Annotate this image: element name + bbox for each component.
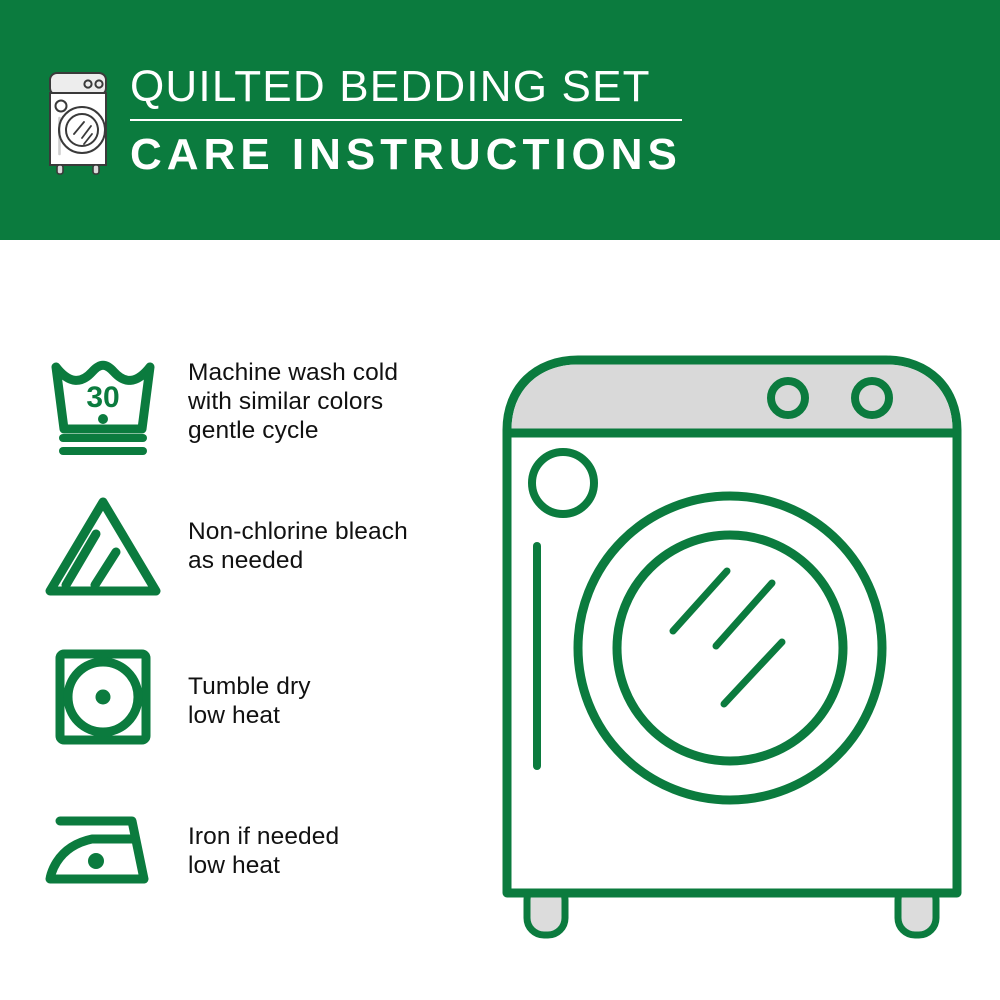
care-text-line: Machine wash cold (188, 358, 398, 387)
care-item-tumble-dry: Tumble dry low heat (44, 645, 464, 757)
care-text-line: low heat (188, 851, 339, 880)
page-title-secondary: CARE INSTRUCTIONS (130, 130, 682, 180)
wash-temperature-value: 30 (86, 381, 119, 414)
care-item-iron-text: Iron if needed low heat (188, 822, 339, 880)
care-item-tumble-dry-text: Tumble dry low heat (188, 672, 311, 730)
care-text-line: Tumble dry (188, 672, 311, 701)
page-title-primary: QUILTED BEDDING SET (130, 62, 682, 112)
care-item-machine-wash-text: Machine wash cold with similar colors ge… (188, 358, 398, 445)
care-text-line: gentle cycle (188, 416, 398, 445)
header-banner: QUILTED BEDDING SET CARE INSTRUCTIONS (0, 0, 1000, 240)
care-item-bleach-text: Non-chlorine bleach as needed (188, 517, 408, 575)
front-load-washing-machine-illustration (480, 318, 980, 943)
title-divider (130, 119, 682, 121)
care-item-iron: Iron if needed low heat (44, 795, 464, 907)
washing-machine-icon (44, 68, 112, 178)
care-instruction-list: 30 Machine wash cold with similar colors… (0, 240, 470, 1000)
care-text-line: Iron if needed (188, 822, 339, 851)
header-content: QUILTED BEDDING SET CARE INSTRUCTIONS (44, 62, 682, 180)
care-item-bleach: Non-chlorine bleach as needed (44, 490, 464, 602)
care-text-line: low heat (188, 701, 311, 730)
care-text-line: as needed (188, 546, 408, 575)
care-text-line: Non-chlorine bleach (188, 517, 408, 546)
iron-low-heat-icon (44, 795, 162, 907)
care-item-machine-wash: 30 Machine wash cold with similar colors… (44, 345, 464, 457)
tumble-dry-low-heat-icon (44, 645, 162, 757)
wash-tub-30-gentle-icon: 30 (44, 345, 162, 457)
triangle-non-chlorine-bleach-icon (44, 490, 162, 602)
care-text-line: with similar colors (188, 387, 398, 416)
care-instructions-infographic: QUILTED BEDDING SET CARE INSTRUCTIONS 30… (0, 0, 1000, 1000)
title-block: QUILTED BEDDING SET CARE INSTRUCTIONS (130, 62, 682, 180)
